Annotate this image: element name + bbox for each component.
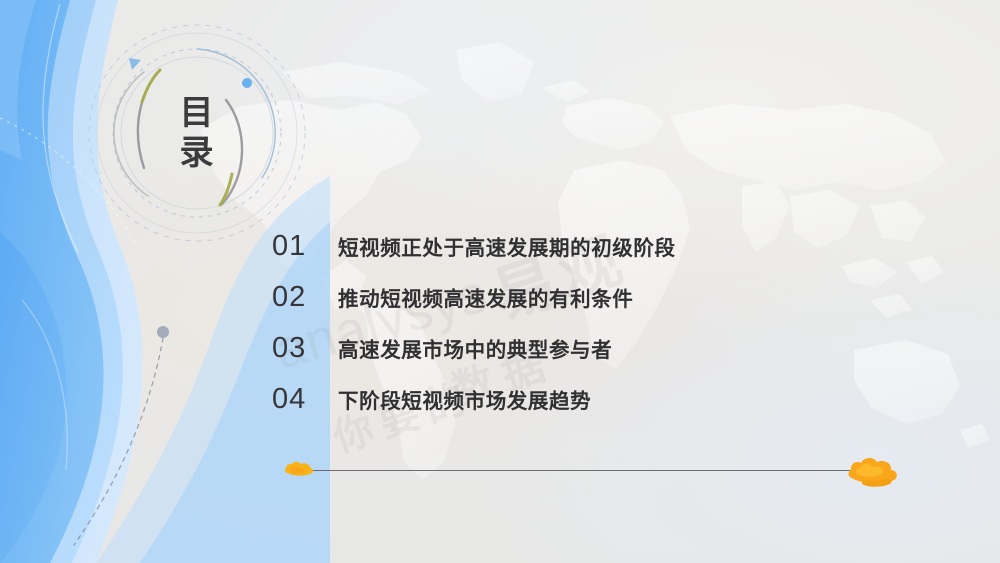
orange-cloud-right-icon <box>845 452 901 492</box>
contents-item-number: 04 <box>272 383 338 416</box>
bottom-divider-group <box>283 452 883 500</box>
orange-cloud-left-icon <box>283 458 317 482</box>
page-title-char-2: 录 <box>180 133 215 173</box>
contents-item-02[interactable]: 02 推动短视频高速发展的有利条件 <box>272 281 892 332</box>
contents-item-number: 01 <box>272 230 338 263</box>
contents-item-label: 高速发展市场中的典型参与者 <box>338 333 612 363</box>
contents-item-number: 03 <box>272 332 338 365</box>
wave-dot-marker <box>157 326 169 338</box>
page-title: 目 录 <box>72 8 322 258</box>
contents-item-label: 短视频正处于高速发展期的初级阶段 <box>338 231 676 261</box>
contents-item-number: 02 <box>272 281 338 314</box>
contents-item-label: 推动短视频高速发展的有利条件 <box>338 282 633 312</box>
contents-item-04[interactable]: 04 下阶段短视频市场发展趋势 <box>272 383 892 434</box>
contents-item-label: 下阶段短视频市场发展趋势 <box>338 384 591 414</box>
contents-list: 01 短视频正处于高速发展期的初级阶段 02 推动短视频高速发展的有利条件 03… <box>272 230 892 434</box>
contents-item-01[interactable]: 01 短视频正处于高速发展期的初级阶段 <box>272 230 892 281</box>
page-title-char-1: 目 <box>180 93 215 133</box>
slide-canvas: 目 录 易观 analysys 数据 你要的 01 短视频正处于高速发展期的初级… <box>0 0 1000 563</box>
horizontal-divider <box>305 470 861 471</box>
contents-item-03[interactable]: 03 高速发展市场中的典型参与者 <box>272 332 892 383</box>
